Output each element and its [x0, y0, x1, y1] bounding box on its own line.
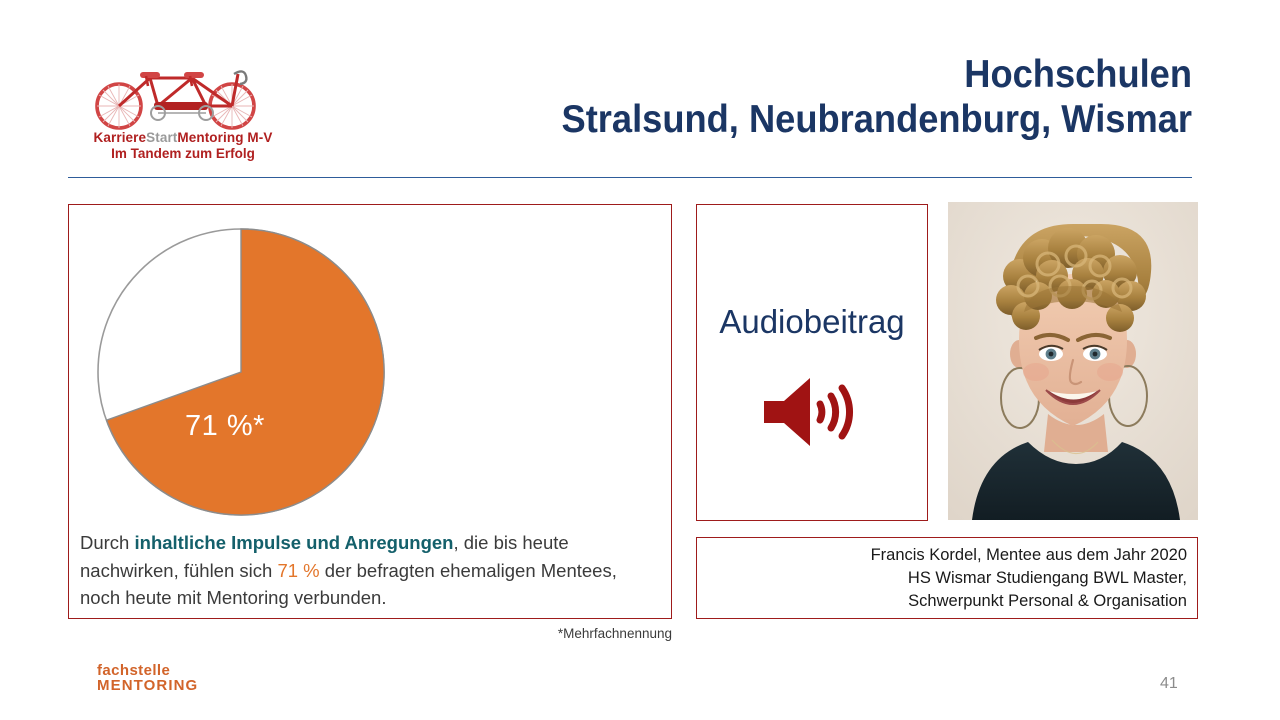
- pie-chart-svg: [95, 226, 387, 518]
- footer-logo-line1: fachstelle: [97, 663, 198, 678]
- caption-bold: inhaltliche Impulse und Anregungen: [135, 532, 454, 553]
- brand-logo-tagline: Im Tandem zum Erfolg: [88, 146, 278, 162]
- credit-line-2: HS Wismar Studiengang BWL Master,: [717, 567, 1187, 590]
- caption-text-1: Durch: [80, 532, 135, 553]
- page-title: Hochschulen Stralsund, Neubrandenburg, W…: [429, 52, 1192, 142]
- brand-karriere: Karriere: [94, 130, 147, 145]
- speaker-volume-icon[interactable]: [760, 375, 864, 449]
- brand-logo-line1: KarriereStartMentoring M-V: [88, 130, 278, 146]
- portrait-illustration: [948, 202, 1198, 520]
- credit-line-3: Schwerpunkt Personal & Organisation: [717, 590, 1187, 613]
- audio-panel-label: Audiobeitrag: [697, 303, 927, 341]
- footer-logo-line2: MENTORING: [97, 678, 198, 693]
- brand-logo: KarriereStartMentoring M-V Im Tandem zum…: [88, 58, 278, 162]
- brand-mentoring: Mentoring M-V: [177, 130, 272, 145]
- title-divider: [68, 177, 1192, 178]
- credit-text: Francis Kordel, Mentee aus dem Jahr 2020…: [717, 544, 1187, 613]
- slide-header: KarriereStartMentoring M-V Im Tandem zum…: [0, 0, 1280, 180]
- chart-panel: 71 %* Durch inhaltliche Impulse und Anre…: [68, 204, 672, 619]
- page-title-line2: Stralsund, Neubrandenburg, Wismar: [429, 97, 1192, 142]
- chart-footnote: *Mehrfachnennung: [448, 626, 672, 641]
- portrait-photo: [948, 202, 1198, 520]
- pie-chart: 71 %*: [95, 226, 387, 518]
- caption-highlight: 71 %: [277, 560, 319, 581]
- credit-box: Francis Kordel, Mentee aus dem Jahr 2020…: [696, 537, 1198, 619]
- page-title-line1: Hochschulen: [429, 52, 1192, 97]
- chart-caption: Durch inhaltliche Impulse und Anregungen…: [80, 529, 660, 612]
- speaker-volume-icon-svg: [760, 375, 864, 449]
- page-number: 41: [1160, 675, 1200, 693]
- audio-panel[interactable]: Audiobeitrag: [696, 204, 928, 521]
- credit-line-1: Francis Kordel, Mentee aus dem Jahr 2020: [717, 544, 1187, 567]
- footer-logo: fachstelle MENTORING: [97, 663, 198, 693]
- tandem-bicycle-icon: [88, 58, 270, 130]
- brand-start: Start: [146, 130, 177, 145]
